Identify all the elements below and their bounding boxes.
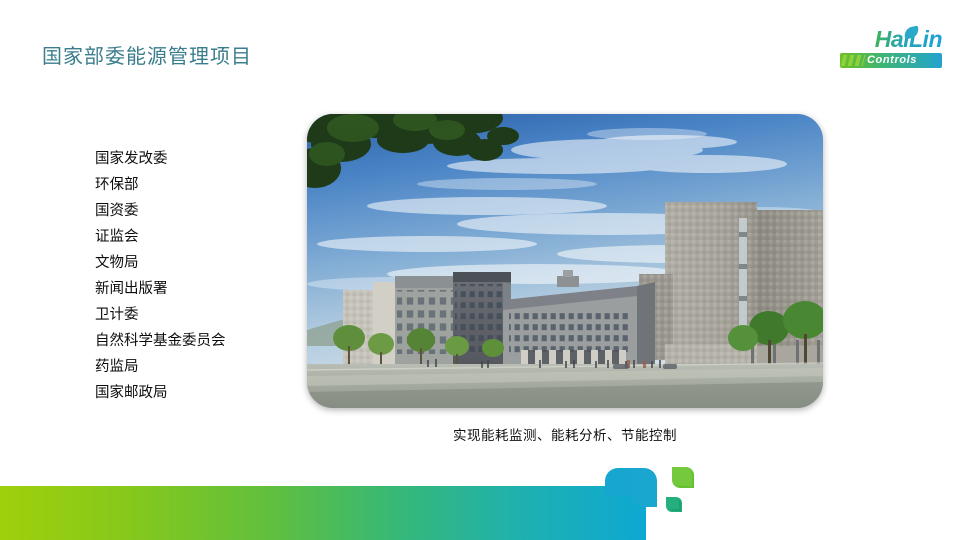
list-item: 药监局 [95, 354, 226, 380]
list-item: 证监会 [95, 224, 226, 250]
list-item: 国家发改委 [95, 146, 226, 172]
list-item: 国家邮政局 [95, 380, 226, 406]
footer-gradient-bar [0, 486, 646, 540]
building-rendering [307, 114, 823, 408]
logo-wordmark: HaiLin [838, 26, 942, 52]
photo-caption: 实现能耗监测、能耗分析、节能控制 [307, 424, 823, 444]
list-item: 国资委 [95, 198, 226, 224]
footer-decoration [0, 468, 960, 540]
list-item: 卫计委 [95, 302, 226, 328]
footer-leaf-green-large-vein [676, 470, 694, 488]
project-building-photo [307, 114, 823, 408]
list-item: 文物局 [95, 250, 226, 276]
ministry-list: 国家发改委 环保部 国资委 证监会 文物局 新闻出版署 卫计委 自然科学基金委员… [95, 146, 226, 406]
signal-bars-icon [841, 55, 866, 66]
footer-leaf-green-small-vein [669, 499, 681, 511]
list-item: 新闻出版署 [95, 276, 226, 302]
hailin-controls-logo: HaiLin Controls [838, 26, 942, 72]
logo-banner-label: Controls [867, 53, 939, 68]
list-item: 自然科学基金委员会 [95, 328, 226, 354]
list-item: 环保部 [95, 172, 226, 198]
page-title: 国家部委能源管理项目 [42, 40, 252, 69]
footer-leaf-teal-icon [631, 468, 657, 507]
